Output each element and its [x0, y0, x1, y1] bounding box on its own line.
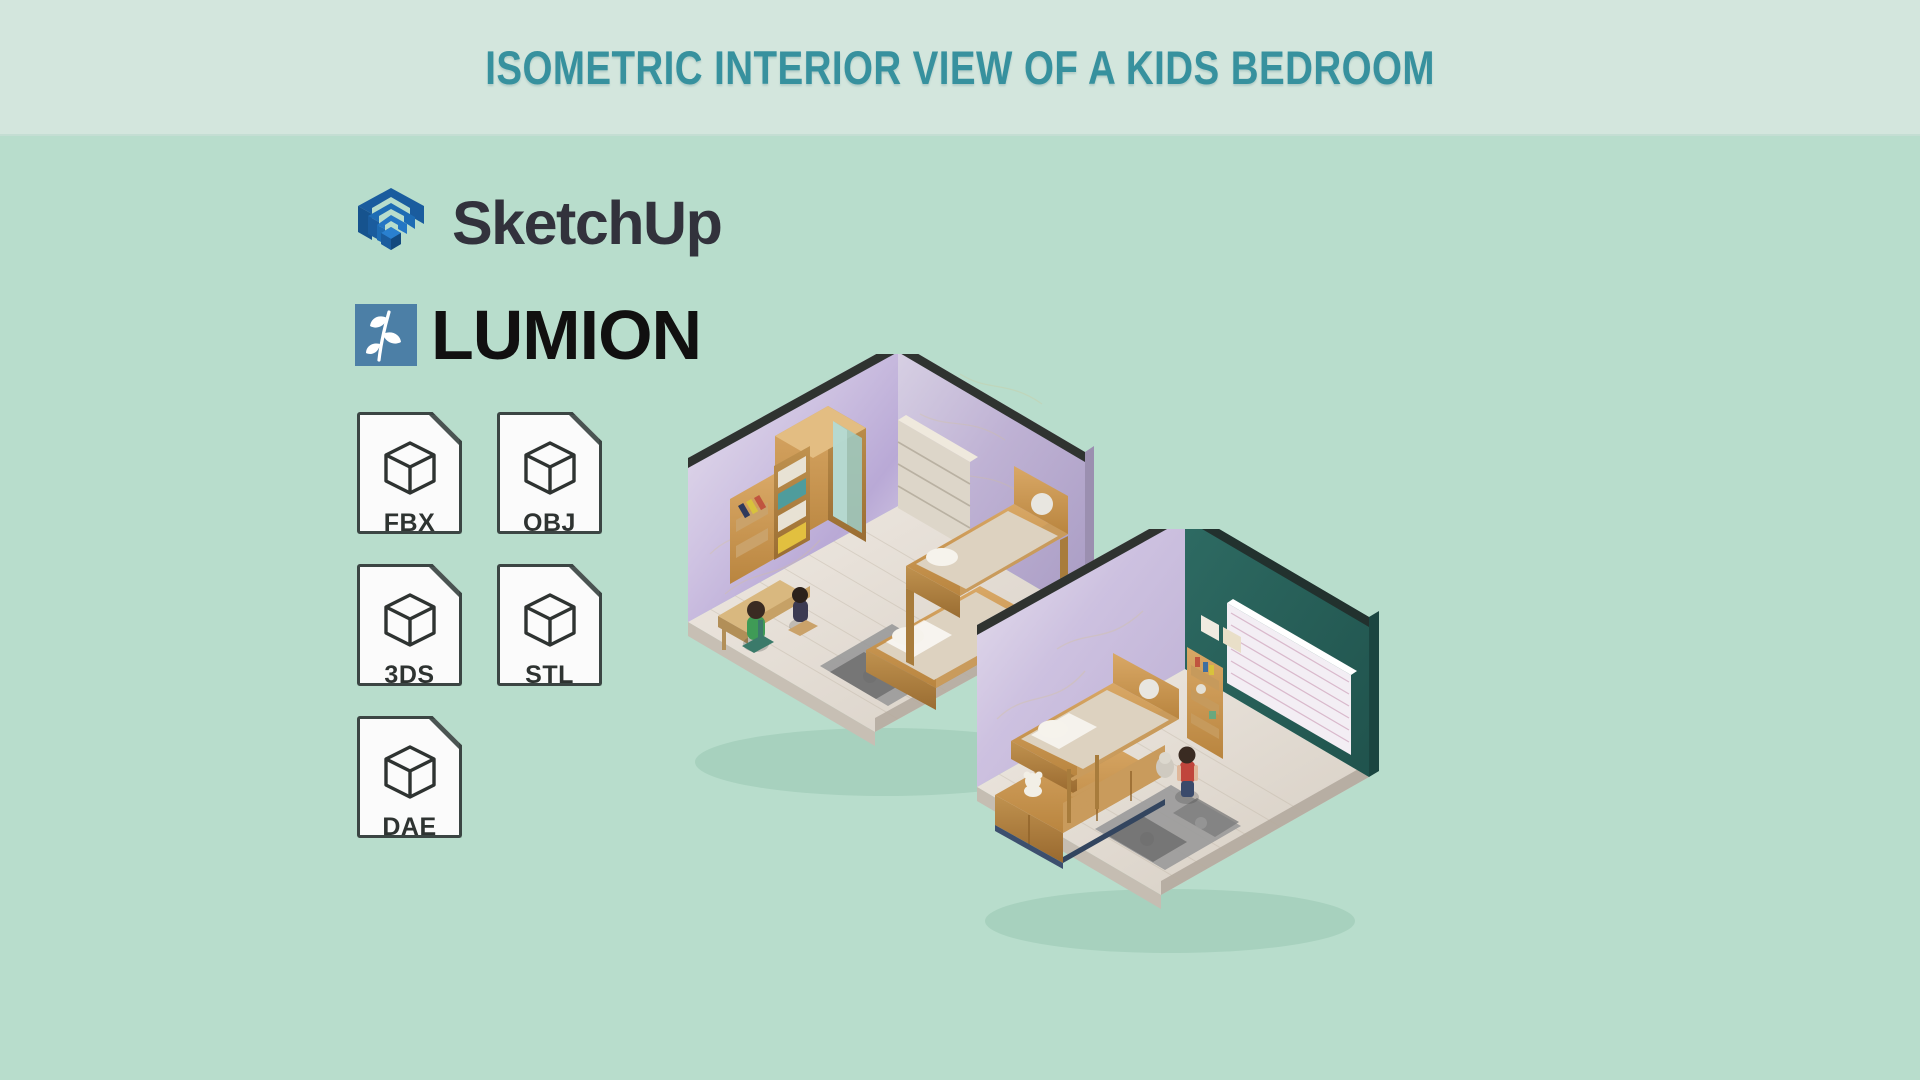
page-fold-corner [429, 415, 459, 445]
lumion-logo: LUMION [355, 300, 701, 370]
file-format-label: STL [525, 661, 574, 690]
file-3d-cube-icon [382, 743, 438, 806]
sketchup-wordmark: SketchUp [452, 188, 721, 258]
render-showcase [780, 134, 1920, 1080]
header-bar: ISOMETRIC INTERIOR VIEW OF A KIDS BEDROO… [0, 0, 1920, 136]
file-format-3ds[interactable]: 3DS [357, 564, 462, 686]
sketchup-logo: SketchUp [352, 184, 721, 262]
file-format-label: FBX [384, 509, 436, 538]
kids-bedroom-render-2[interactable] [965, 529, 1385, 964]
file-format-row: DAE [357, 716, 617, 838]
file-3d-cube-icon [382, 591, 438, 654]
file-format-dae[interactable]: DAE [357, 716, 462, 838]
page-fold-corner [429, 567, 459, 597]
file-3d-cube-icon [382, 439, 438, 502]
file-format-label: OBJ [523, 509, 576, 538]
file-format-fbx[interactable]: FBX [357, 412, 462, 534]
page-fold-corner [569, 415, 599, 445]
lumion-leaf-square-icon [355, 304, 417, 366]
file-format-list: FBX OBJ [357, 412, 617, 868]
file-format-stl[interactable]: STL [497, 564, 602, 686]
file-3d-cube-icon [522, 439, 578, 502]
file-format-label: DAE [382, 813, 436, 842]
sketchup-hexagon-spiral-icon [352, 184, 430, 262]
showcase-banner: ISOMETRIC INTERIOR VIEW OF A KIDS BEDROO… [0, 0, 1920, 1080]
page-title: ISOMETRIC INTERIOR VIEW OF A KIDS BEDROO… [485, 40, 1435, 95]
file-format-row: FBX OBJ [357, 412, 617, 534]
file-3d-cube-icon [522, 591, 578, 654]
page-fold-corner [569, 567, 599, 597]
file-format-row: 3DS STL [357, 564, 617, 686]
file-format-obj[interactable]: OBJ [497, 412, 602, 534]
file-format-label: 3DS [384, 661, 434, 690]
lumion-wordmark: LUMION [431, 300, 701, 370]
page-fold-corner [429, 719, 459, 749]
